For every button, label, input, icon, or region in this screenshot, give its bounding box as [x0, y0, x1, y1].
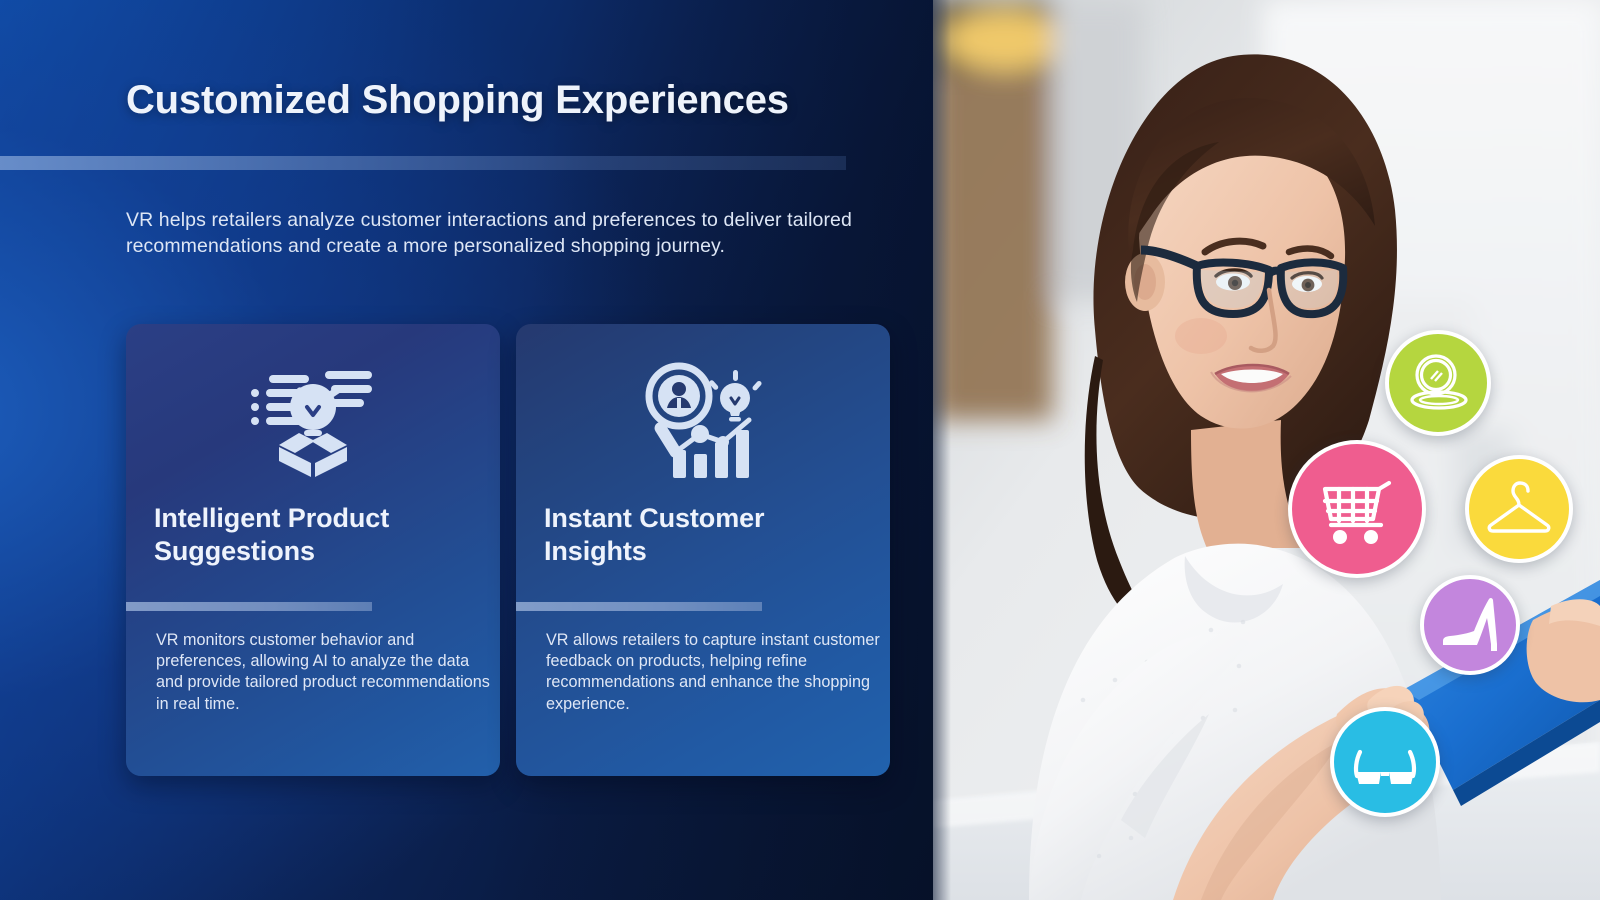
- feature-card-divider: [126, 602, 372, 611]
- intro-paragraph: VR helps retailers analyze customer inte…: [126, 208, 856, 260]
- feature-card-instant-customer-insights[interactable]: Instant Customer Insights VR allows reta…: [516, 324, 890, 776]
- photo-edge-blend: [933, 0, 951, 900]
- hero-photo: [933, 0, 1600, 900]
- left-content-panel: Customized Shopping Experiences VR helps…: [0, 0, 933, 900]
- feature-card-list: Intelligent Product Suggestions VR monit…: [126, 324, 890, 776]
- title-divider: [0, 156, 846, 170]
- feature-card-divider: [516, 602, 762, 611]
- shopping-cart-icon: [1288, 440, 1426, 578]
- feature-card-title: Instant Customer Insights: [544, 502, 868, 568]
- feature-card-title: Intelligent Product Suggestions: [154, 502, 478, 568]
- slide-root: Customized Shopping Experiences VR helps…: [0, 0, 1600, 900]
- idea-box-icon: [126, 348, 500, 488]
- compact-mirror-icon: [1385, 330, 1491, 436]
- page-title: Customized Shopping Experiences: [126, 78, 886, 123]
- customer-insights-chart-icon: [516, 348, 890, 488]
- feature-card-intelligent-product-suggestions[interactable]: Intelligent Product Suggestions VR monit…: [126, 324, 500, 776]
- feature-card-body: VR monitors customer behavior and prefer…: [156, 630, 492, 715]
- eyeglasses-icon: [1330, 707, 1440, 817]
- clothes-hanger-icon: [1465, 455, 1573, 563]
- feature-card-body: VR allows retailers to capture instant c…: [546, 630, 882, 715]
- high-heel-shoe-icon: [1420, 575, 1520, 675]
